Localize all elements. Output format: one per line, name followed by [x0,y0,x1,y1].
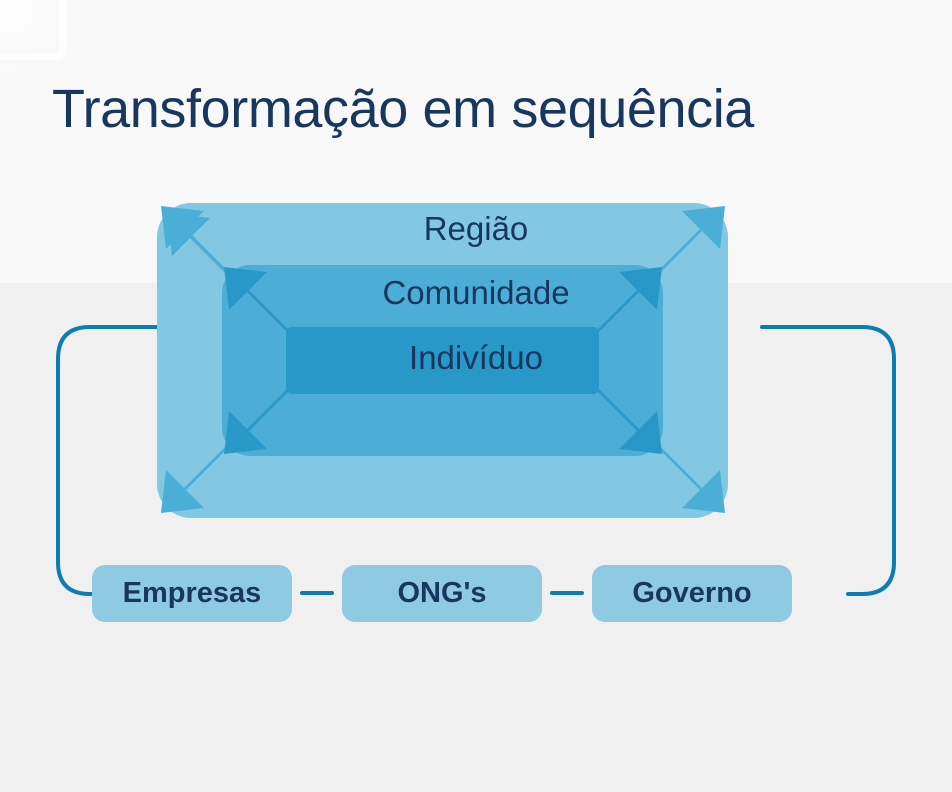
level-label-comunidade: Comunidade [0,276,952,309]
connector-ongs-governo [550,591,584,595]
slide-canvas: Transformação em sequência [0,0,952,792]
actor-pill-empresas[interactable]: Empresas [92,565,292,622]
connector-empresas-ongs [300,591,334,595]
corner-bracket-decoration [0,0,66,60]
actor-pill-governo[interactable]: Governo [592,565,792,622]
level-label-regiao: Região [0,212,952,245]
actor-pill-ongs-label: ONG's [397,577,486,610]
actor-pill-governo-label: Governo [632,577,751,610]
actor-pill-empresas-label: Empresas [123,577,262,610]
page-title: Transformação em sequência [52,82,754,136]
level-label-individuo: Indivíduo [0,341,952,374]
actor-pill-ongs[interactable]: ONG's [342,565,542,622]
